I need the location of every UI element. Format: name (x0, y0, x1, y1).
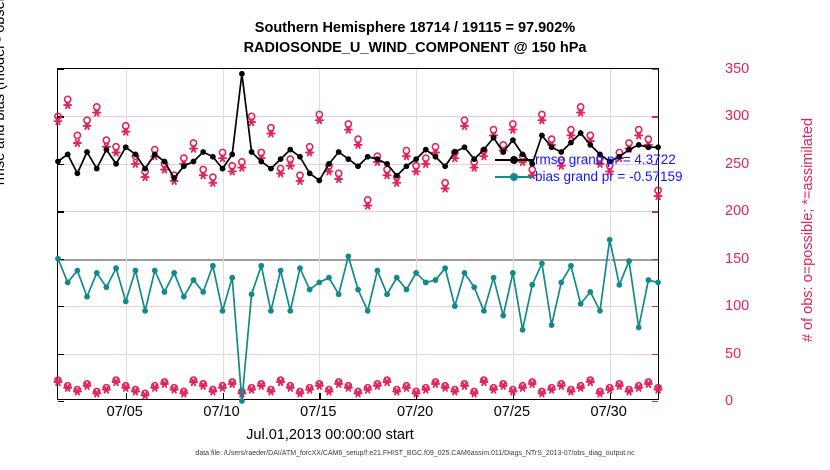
x-axis-tick-label: 07/25 (494, 404, 530, 420)
series-point (65, 151, 71, 157)
series-point (171, 175, 177, 181)
series-point (636, 142, 642, 148)
series-point (210, 154, 216, 160)
series-point (520, 327, 526, 333)
series-point (239, 398, 245, 404)
series-point (74, 170, 80, 176)
series-point (539, 261, 545, 267)
y-axis-right-tick-label: 250 (725, 156, 770, 172)
series-marker-group (55, 237, 661, 404)
obs-possible-marker (74, 132, 80, 138)
series-point (636, 325, 642, 331)
series-point (413, 156, 419, 162)
series-point (84, 294, 90, 300)
series-point (462, 270, 468, 276)
series-point (423, 280, 429, 286)
y-axis-right-tick-label: 0 (725, 393, 770, 409)
series-point (152, 268, 158, 274)
x-axis-tick-label: 07/05 (107, 404, 143, 420)
series-point (365, 308, 371, 314)
series-point (404, 287, 410, 293)
x-axis-label: Jul.01,2013 00:00:00 start (0, 427, 660, 443)
series-point (345, 156, 351, 162)
series-point (220, 308, 226, 314)
page-title-line1: Southern Hemisphere 18714 / 19115 = 97.9… (0, 20, 830, 36)
series-point (268, 308, 274, 314)
footer-data-file-path: data file: /Users/raeder/DAI/ATM_forcXX/… (0, 450, 830, 457)
series-point (404, 163, 410, 169)
obs-possible-marker (287, 156, 293, 162)
series-point (229, 275, 235, 281)
series-point (462, 144, 468, 150)
series-point (181, 163, 187, 169)
series-point (365, 154, 371, 160)
series-point (394, 275, 400, 281)
series-point (113, 265, 119, 271)
x-axis-tick-label: 07/15 (300, 404, 336, 420)
series-point (133, 151, 139, 157)
series-point (181, 294, 187, 300)
series-point (491, 275, 497, 281)
series-point (123, 144, 129, 150)
series-point (345, 253, 351, 259)
series-point (491, 135, 497, 141)
series-point (645, 277, 651, 283)
series-point (200, 149, 206, 155)
series-point (433, 277, 439, 283)
series-point (578, 130, 584, 136)
plot-area: 86420-2-4-6350300250200150100500 rmse gr… (57, 68, 659, 400)
series-point (307, 287, 313, 293)
series-point (287, 308, 293, 314)
series-point (413, 270, 419, 276)
y-axis-right-tick-label: 100 (725, 298, 770, 314)
series-point (616, 282, 622, 288)
series-point (500, 313, 506, 319)
x-axis-tick-label: 07/30 (591, 404, 627, 420)
series-point (442, 163, 448, 169)
series-point (249, 291, 255, 297)
series-point (94, 166, 100, 172)
series-point (152, 151, 158, 157)
series-point (326, 275, 332, 281)
series-point (452, 303, 458, 309)
series-point (65, 280, 71, 286)
series-point (123, 299, 129, 305)
series-point (374, 268, 380, 274)
y-axis-right-tick-label: 200 (725, 203, 770, 219)
series-point (597, 308, 603, 314)
series-point (297, 154, 303, 160)
series-point (297, 265, 303, 271)
series-line-bias (58, 240, 658, 401)
series-point (55, 159, 61, 165)
series-point (103, 284, 109, 290)
legend: rmse grand pr = 4.3722 bias grand pr = -… (492, 149, 726, 187)
series-point (133, 268, 139, 274)
y-axis-right-tick-label: 50 (725, 346, 770, 362)
series-point (229, 151, 235, 157)
series-point (258, 263, 264, 269)
series-point (162, 289, 168, 295)
series-point (287, 147, 293, 153)
series-point (423, 147, 429, 153)
series-point (249, 149, 255, 155)
series-point (626, 258, 632, 264)
series-point (355, 287, 361, 293)
series-point (113, 161, 119, 167)
series-point (568, 263, 574, 269)
series-point (481, 147, 487, 153)
legend-item-bias: bias grand pr = -0.57159 (495, 168, 723, 185)
series-point (239, 71, 245, 77)
series-point (568, 140, 574, 146)
series-point (452, 149, 458, 155)
series-point (316, 178, 322, 184)
series-point (384, 161, 390, 167)
series-point (162, 159, 168, 165)
series-point (74, 268, 80, 274)
y-axis-left-tick-mark (58, 401, 64, 402)
series-point (587, 142, 593, 148)
legend-label-rmse: rmse grand pr = 4.3722 (535, 151, 676, 168)
legend-marker-rmse (510, 156, 518, 164)
series-point (278, 268, 284, 274)
legend-item-rmse: rmse grand pr = 4.3722 (495, 151, 723, 168)
series-point (191, 277, 197, 283)
series-point (587, 289, 593, 295)
page-title-line2: RADIOSONDE_U_WIND_COMPONENT @ 150 hPa (0, 40, 830, 56)
series-point (655, 280, 661, 286)
series-point (171, 270, 177, 276)
series-point (510, 270, 516, 276)
x-axis-tick-label: 07/20 (397, 404, 433, 420)
legend-label-bias: bias grand pr = -0.57159 (535, 168, 682, 185)
series-point (442, 265, 448, 271)
series-point (336, 291, 342, 297)
series-point (326, 161, 332, 167)
y-axis-right-tick-mark (652, 401, 658, 402)
y-axis-right-tick-label: 150 (725, 251, 770, 267)
y-axis-right-label: # of obs: o=possible; *=assimilated (800, 60, 816, 400)
series-point (336, 149, 342, 155)
y-axis-left-label: rmse and bias (model - observation) (0, 0, 8, 234)
y-axis-right-tick-label: 350 (725, 61, 770, 77)
series-point (510, 137, 516, 143)
series-point (471, 284, 477, 290)
series-point (607, 237, 613, 243)
series-point (539, 133, 545, 139)
series-point (558, 280, 564, 286)
series-point (200, 289, 206, 295)
series-point (578, 301, 584, 307)
series-point (268, 166, 274, 172)
series-point (355, 163, 361, 169)
series-point (374, 156, 380, 162)
series-point (191, 159, 197, 165)
series-point (55, 256, 61, 262)
obs-possible-marker (103, 137, 109, 143)
series-point (384, 291, 390, 297)
series-point (471, 156, 477, 162)
plot-canvas: Southern Hemisphere 18714 / 19115 = 97.9… (0, 0, 830, 470)
series-point (210, 263, 216, 269)
series-point (258, 159, 264, 165)
series-point (316, 280, 322, 286)
legend-marker-bias (510, 173, 518, 181)
series-point (481, 308, 487, 314)
series-point (94, 270, 100, 276)
data-series-layer (58, 69, 660, 401)
series-point (394, 173, 400, 179)
series-point (433, 154, 439, 160)
series-point (103, 147, 109, 153)
series-point (307, 170, 313, 176)
series-point (529, 282, 535, 288)
series-point (278, 156, 284, 162)
y-axis-right-tick-label: 300 (725, 108, 770, 124)
series-point (549, 322, 555, 328)
x-axis-tick-label: 07/10 (203, 404, 239, 420)
series-point (142, 166, 148, 172)
series-point (84, 149, 90, 155)
series-point (220, 166, 226, 172)
series-point (142, 308, 148, 314)
